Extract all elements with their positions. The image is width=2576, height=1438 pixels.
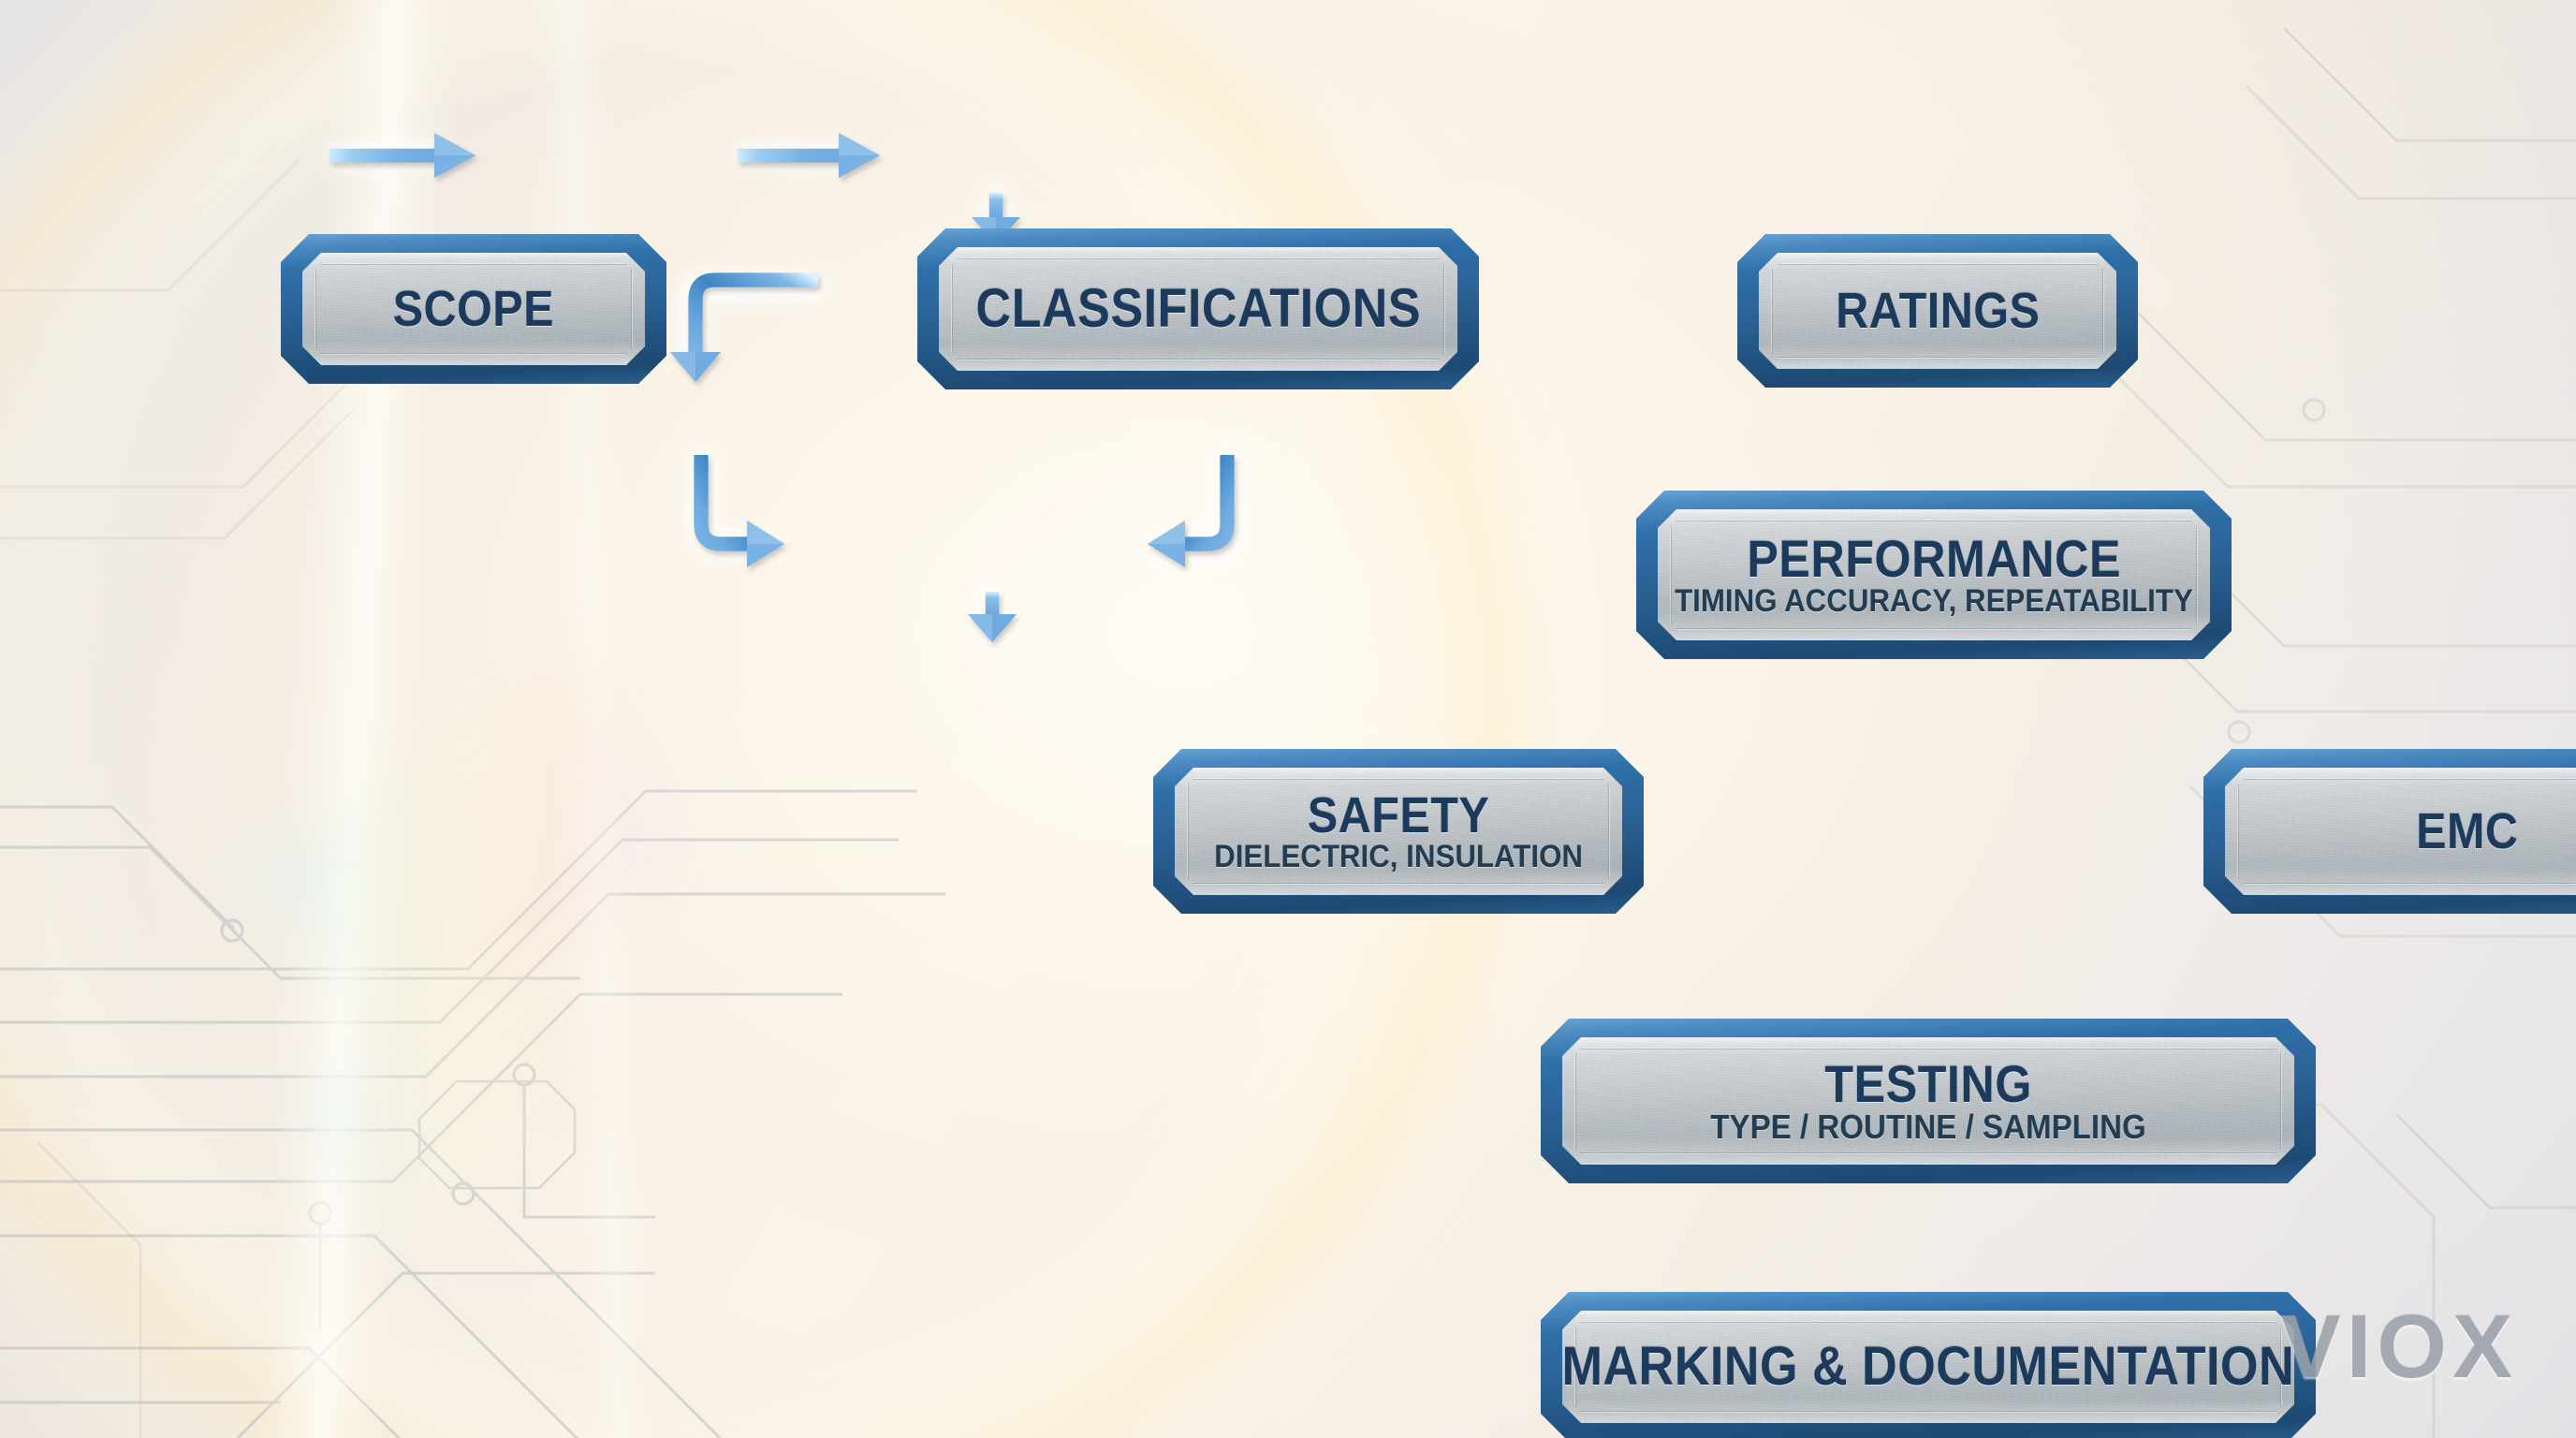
node-safety-face: SAFETY DIELECTRIC, INSULATION bbox=[1175, 768, 1622, 895]
arrow-classifications-to-ratings bbox=[738, 133, 880, 178]
arrow-testing-to-marking bbox=[968, 592, 1017, 642]
node-marking[interactable]: MARKING & DOCUMENTATION bbox=[1541, 1292, 2316, 1438]
node-testing-subtitle: TYPE / ROUTINE / SAMPLING bbox=[1710, 1110, 2146, 1144]
arrow-scope-to-classifications bbox=[329, 133, 476, 178]
node-marking-title: MARKING & DOCUMENTATION bbox=[1562, 1340, 2294, 1394]
node-safety-title: SAFETY bbox=[1308, 790, 1489, 841]
viox-logo-watermark: VIOX bbox=[2281, 1296, 2518, 1399]
node-ratings-title: RATINGS bbox=[1836, 286, 2040, 336]
node-performance[interactable]: PERFORMANCE TIMING ACCURACY, REPEATABILI… bbox=[1636, 491, 2232, 659]
node-classifications[interactable]: CLASSIFICATIONS bbox=[917, 228, 1479, 389]
node-testing-title: TESTING bbox=[1824, 1058, 2032, 1110]
node-scope[interactable]: SCOPE bbox=[281, 234, 666, 384]
node-classifications-face: CLASSIFICATIONS bbox=[939, 247, 1457, 371]
diagram-canvas: SCOPE CLASSIFICATIONS RATINGS PERFORMANC… bbox=[0, 0, 2576, 1438]
node-ratings[interactable]: RATINGS bbox=[1737, 234, 2138, 388]
node-testing-face: TESTING TYPE / ROUTINE / SAMPLING bbox=[1562, 1037, 2294, 1165]
node-classifications-title: CLASSIFICATIONS bbox=[975, 282, 1421, 336]
node-performance-subtitle: TIMING ACCURACY, REPEATABILITY bbox=[1675, 585, 2193, 617]
node-performance-title: PERFORMANCE bbox=[1747, 533, 2121, 585]
node-testing[interactable]: TESTING TYPE / ROUTINE / SAMPLING bbox=[1541, 1019, 2316, 1183]
node-emc-title: EMC bbox=[2416, 806, 2518, 857]
node-emc-face: EMC bbox=[2225, 768, 2576, 895]
node-marking-face: MARKING & DOCUMENTATION bbox=[1562, 1311, 2294, 1423]
connector-layer bbox=[0, 0, 2576, 1438]
node-safety-subtitle: DIELECTRIC, INSULATION bbox=[1214, 841, 1583, 873]
node-emc[interactable]: EMC bbox=[2203, 749, 2576, 914]
node-scope-face: SCOPE bbox=[302, 253, 645, 365]
node-scope-title: SCOPE bbox=[393, 284, 554, 334]
node-ratings-face: RATINGS bbox=[1759, 253, 2116, 369]
node-performance-face: PERFORMANCE TIMING ACCURACY, REPEATABILI… bbox=[1658, 509, 2210, 640]
node-safety[interactable]: SAFETY DIELECTRIC, INSULATION bbox=[1153, 749, 1644, 914]
